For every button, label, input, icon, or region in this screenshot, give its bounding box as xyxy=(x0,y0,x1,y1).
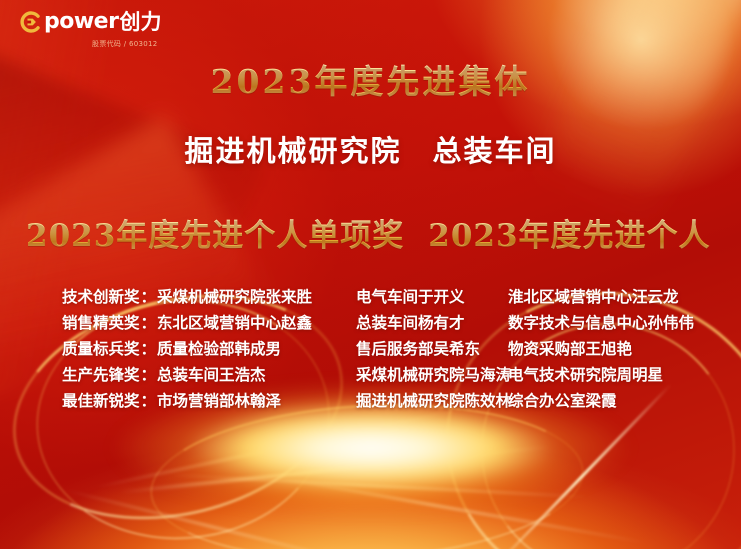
award-name: 质量标兵奖 xyxy=(62,336,140,362)
winner-name: 物资采购部王旭艳 xyxy=(508,336,632,362)
award-name: 最佳新锐奖 xyxy=(62,388,140,414)
winner-name: 采煤机械研究院张来胜 xyxy=(157,284,312,310)
winner-name: 电气技术研究院周明星 xyxy=(508,362,663,388)
award-poster: power 创力 股票代码 / 603012 2023年度先进集体 掘进机械研究… xyxy=(0,0,741,549)
separator: ： xyxy=(141,284,157,310)
winner-name: 总装车间杨有才 xyxy=(356,310,508,336)
poster-content: power 创力 股票代码 / 603012 2023年度先进集体 掘进机械研究… xyxy=(0,0,741,549)
list-item: 生产先锋奖 ： 总装车间王浩杰 xyxy=(62,362,312,388)
right-winner-list: 电气车间于开义 淮北区域营销中心汪云龙 总装车间杨有才 数字技术与信息中心孙伟伟… xyxy=(356,284,694,414)
separator: ： xyxy=(141,388,157,414)
award-name: 生产先锋奖 xyxy=(62,362,140,388)
award-name: 技术创新奖 xyxy=(62,284,140,310)
power-circle-logo-icon xyxy=(18,10,42,34)
winner-name: 采煤机械研究院马海涛 xyxy=(356,362,508,388)
section-headings: 2023年度先进个人单项奖 2023年度先进个人 xyxy=(0,216,741,256)
list-item: 采煤机械研究院马海涛 电气技术研究院周明星 xyxy=(356,362,694,388)
winner-name: 质量检验部韩成男 xyxy=(157,336,281,362)
winner-lists: 技术创新奖 ： 采煤机械研究院张来胜 销售精英奖 ： 东北区域营销中心赵鑫 质量… xyxy=(0,284,741,414)
list-item: 技术创新奖 ： 采煤机械研究院张来胜 xyxy=(62,284,312,310)
collective-winners: 掘进机械研究院 总装车间 xyxy=(0,132,741,170)
award-name: 销售精英奖 xyxy=(62,310,140,336)
list-item: 最佳新锐奖 ： 市场营销部林翰泽 xyxy=(62,388,312,414)
section-heading-individual-special-award: 2023年度先进个人单项奖 xyxy=(26,216,404,256)
winner-name: 数字技术与信息中心孙伟伟 xyxy=(508,310,694,336)
winner-name: 掘进机械研究院陈效林 xyxy=(356,388,508,414)
logo-text-en: power xyxy=(44,11,118,33)
stock-code-label: 股票代码 / 603012 xyxy=(92,39,157,49)
list-item: 电气车间于开义 淮北区域营销中心汪云龙 xyxy=(356,284,694,310)
winner-name: 淮北区域营销中心汪云龙 xyxy=(508,284,679,310)
separator: ： xyxy=(141,362,157,388)
list-item: 掘进机械研究院陈效林 综合办公室梁霞 xyxy=(356,388,694,414)
winner-name: 市场营销部林翰泽 xyxy=(157,388,281,414)
left-award-list: 技术创新奖 ： 采煤机械研究院张来胜 销售精英奖 ： 东北区域营销中心赵鑫 质量… xyxy=(62,284,312,414)
list-item: 质量标兵奖 ： 质量检验部韩成男 xyxy=(62,336,312,362)
winner-name: 综合办公室梁霞 xyxy=(508,388,617,414)
winner-name: 东北区域营销中心赵鑫 xyxy=(157,310,312,336)
brand-logo: power 创力 股票代码 / 603012 xyxy=(18,10,161,49)
list-item: 销售精英奖 ： 东北区域营销中心赵鑫 xyxy=(62,310,312,336)
list-item: 售后服务部吴希东 物资采购部王旭艳 xyxy=(356,336,694,362)
page-title: 2023年度先进集体 xyxy=(0,62,741,102)
section-heading-individual-award: 2023年度先进个人 xyxy=(428,216,710,256)
logo-row: power 创力 xyxy=(18,10,161,34)
winner-name: 电气车间于开义 xyxy=(356,284,508,310)
separator: ： xyxy=(141,310,157,336)
logo-text-cn: 创力 xyxy=(119,11,161,33)
separator: ： xyxy=(141,336,157,362)
winner-name: 售后服务部吴希东 xyxy=(356,336,508,362)
list-item: 总装车间杨有才 数字技术与信息中心孙伟伟 xyxy=(356,310,694,336)
winner-name: 总装车间王浩杰 xyxy=(157,362,266,388)
